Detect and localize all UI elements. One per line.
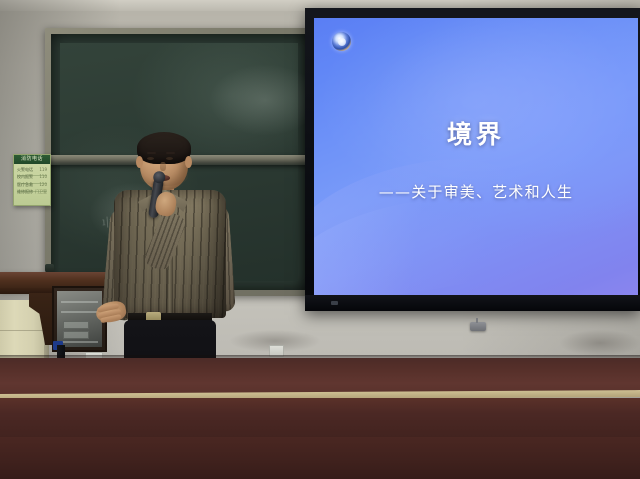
notice-row: 火警电话 119: [14, 167, 50, 172]
notice-header: 消防电话: [14, 155, 50, 164]
lecturer-ear-right: [185, 156, 192, 168]
projection-screen: 境界 ——关于审美、艺术和人生: [305, 8, 640, 311]
slide-wave-shape-secondary: [314, 192, 479, 295]
lecturer-eye-right: [166, 157, 173, 160]
lecturer-brow-right: [166, 152, 175, 154]
screen-bottom-bezel: [305, 295, 640, 311]
projector-glow: [314, 18, 638, 295]
lecture-hall-photo: ı|ı 消防电话 火警电话 119 校内报警 110 医疗急救 120 维修报修…: [0, 0, 640, 479]
slide-surface: 境界 ——关于审美、艺术和人生: [314, 18, 638, 295]
lecturer-brow-left: [147, 152, 156, 154]
stage-riser-face: [0, 398, 640, 438]
notice-row-label: 火警电话: [17, 167, 33, 172]
lecturer-hand-on-podium: [94, 299, 128, 325]
lecturer-eye-left: [147, 157, 154, 160]
safety-notice-board: 消防电话 火警电话 119 校内报警 110 医疗急救 120 维修报修 门卫室: [13, 154, 51, 206]
wall-mounted-bracket-icon: [470, 322, 486, 331]
screen-indicator-icon: [331, 301, 338, 305]
stage-platform-top: [0, 358, 640, 394]
slide-subtitle: ——关于审美、艺术和人生: [314, 181, 638, 202]
lecturer-hair: [137, 132, 191, 164]
slide-wave-shape: [314, 146, 544, 295]
slide-title: 境界: [314, 115, 638, 151]
institution-emblem-icon: [332, 32, 351, 51]
lecturer-nose: [160, 162, 166, 171]
podium-control-panel[interactable]: [57, 291, 102, 347]
lecturer-ear-left: [136, 156, 143, 168]
floor-foreground: [0, 437, 640, 479]
notice-row-value: 119: [39, 167, 47, 172]
